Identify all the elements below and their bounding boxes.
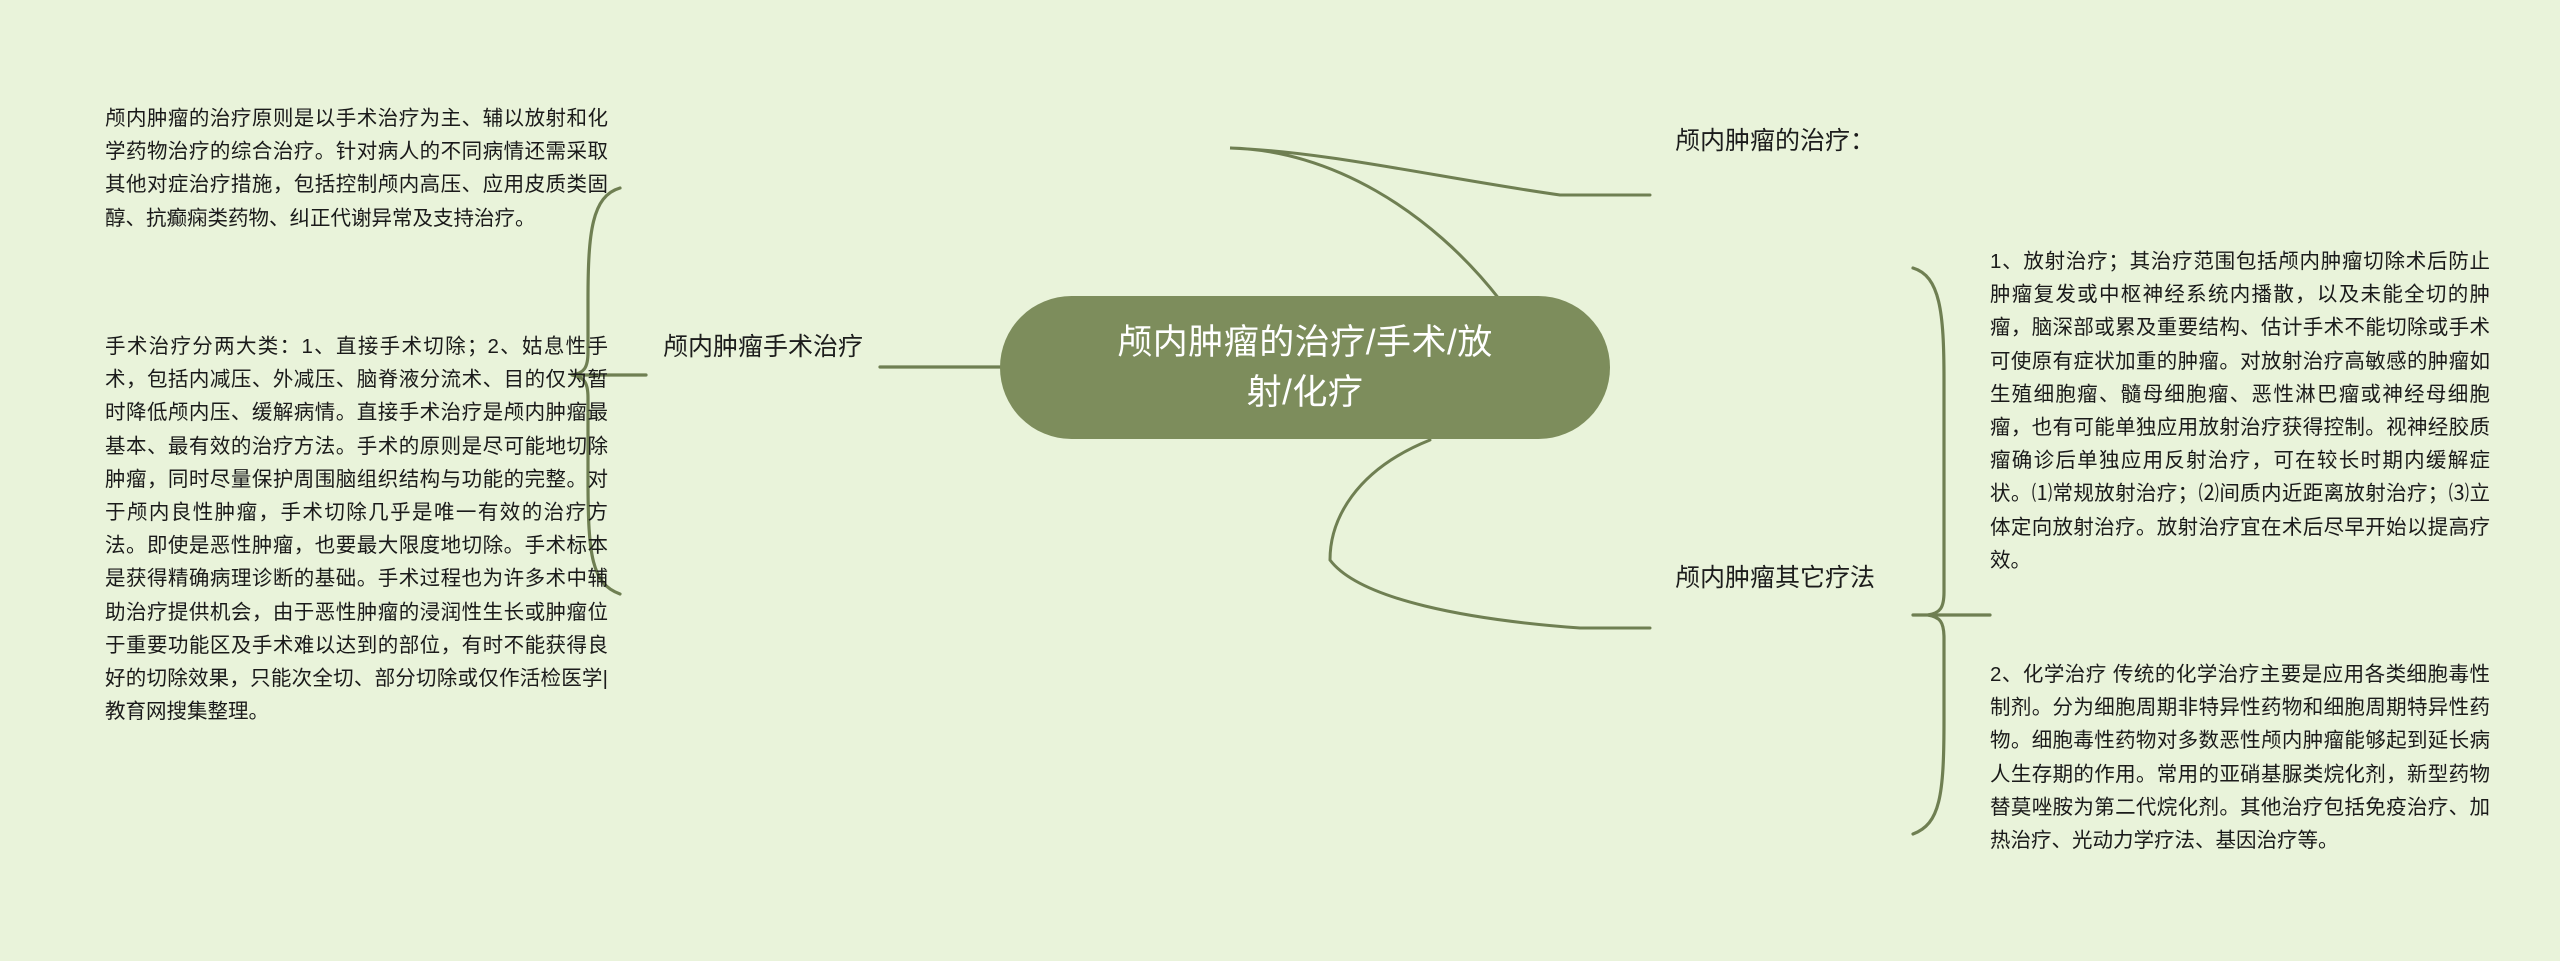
root-node-label: 颅内肿瘤的治疗/手术/放 射/化疗 (1117, 318, 1492, 417)
branch-label-treatment[interactable]: 颅内肿瘤的治疗： (1675, 125, 1875, 158)
branch-label-other-therapies[interactable]: 颅内肿瘤其它疗法 (1675, 562, 1875, 595)
connector-root-to-treatment (1230, 148, 1650, 300)
right-bracket (1913, 268, 1944, 834)
paragraph-radiotherapy: 1、放射治疗；其治疗范围包括颅内肿瘤切除术后防止肿瘤复发或中枢神经系统内播散，以… (1990, 245, 2490, 577)
connector-root-to-other (1330, 440, 1650, 628)
paragraph-surgical-treatment: 手术治疗分两大类：1、直接手术切除；2、姑息性手术，包括内减压、外减压、脑脊液分… (105, 330, 608, 728)
root-node[interactable]: 颅内肿瘤的治疗/手术/放 射/化疗 (1000, 296, 1610, 439)
mindmap-canvas: 颅内肿瘤的治疗/手术/放 射/化疗 颅内肿瘤手术治疗 颅内肿瘤的治疗： 颅内肿瘤… (0, 0, 2560, 961)
branch-label-surgery[interactable]: 颅内肿瘤手术治疗 (663, 331, 863, 364)
paragraph-treatment-principles: 颅内肿瘤的治疗原则是以手术治疗为主、辅以放射和化学药物治疗的综合治疗。针对病人的… (105, 102, 608, 235)
paragraph-chemotherapy: 2、化学治疗 传统的化学治疗主要是应用各类细胞毒性制剂。分为细胞周期非特异性药物… (1990, 658, 2490, 857)
